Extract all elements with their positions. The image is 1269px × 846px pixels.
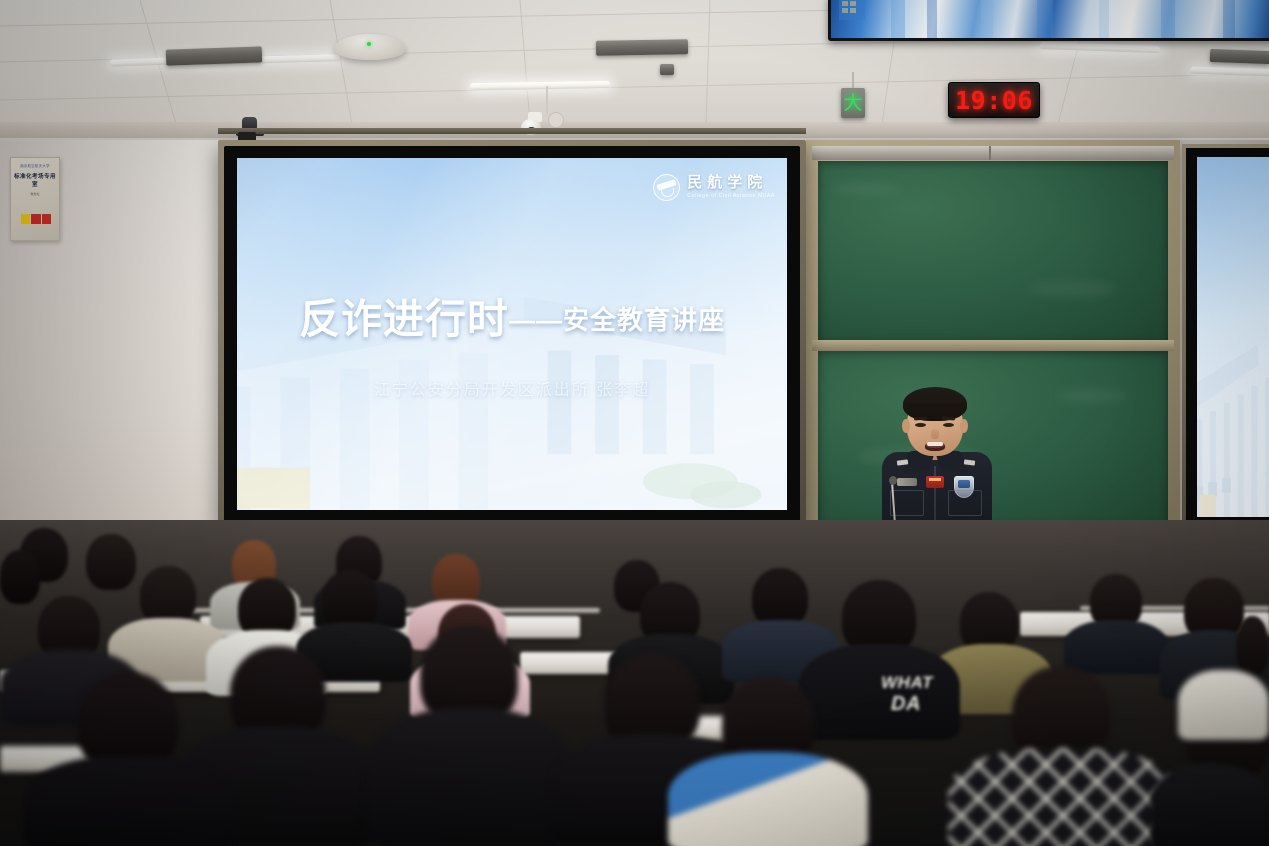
microphone-head xyxy=(889,476,897,485)
officer-eye-left xyxy=(915,423,926,427)
officer-ear-left xyxy=(902,419,910,433)
audience-area: WHAT DA xyxy=(0,520,1269,846)
wall-tv-display[interactable] xyxy=(828,0,1269,41)
secondary-display-slide[interactable] xyxy=(1197,157,1269,517)
audience-shoulders-20 xyxy=(366,708,572,846)
audience-head-15 xyxy=(752,568,808,628)
audience-shoulders-26 xyxy=(1178,670,1269,740)
blackboard-slide-track[interactable] xyxy=(812,146,1174,160)
blackboard-middle-rail xyxy=(812,340,1174,351)
tv-content xyxy=(831,0,1269,38)
civil-aviation-emblem-icon xyxy=(653,174,680,201)
slide-title-subtitle: ——安全教育讲座 xyxy=(509,305,725,335)
slide-presenter-line: 江宁公安分局开发区派出所 张李超 xyxy=(237,376,787,400)
screen-top-rail xyxy=(218,128,806,134)
officer-wing-insignia xyxy=(897,478,917,486)
audience-head-11 xyxy=(322,570,378,630)
plaque-department: 教务处 xyxy=(14,192,56,196)
plaque-university-name: 南京航空航天大学 xyxy=(14,163,56,168)
exit-sign-stem xyxy=(852,72,854,89)
presentation-slide[interactable]: 民航学院 College of Civil Aviation NUAA 反诈进行… xyxy=(237,158,787,510)
ceiling-sensor xyxy=(660,64,674,75)
hoodie-text-line1: WHAT xyxy=(862,674,952,691)
camera-cable xyxy=(546,86,548,114)
audience-head-5 xyxy=(86,534,136,590)
audience-shoulders-hoodie xyxy=(798,644,960,740)
audience-shoulders-8 xyxy=(1064,620,1168,674)
audience-shoulders-25 xyxy=(1150,764,1269,846)
blackboard-upper-panel xyxy=(818,161,1168,341)
officer-teeth xyxy=(927,442,943,446)
audience-head-18 xyxy=(1236,616,1269,676)
emergency-exit-sign: 大 xyxy=(841,88,865,118)
officer-ear-right xyxy=(960,419,968,433)
camera-wall-plate xyxy=(548,112,564,128)
slide-title-block: 反诈进行时——安全教育讲座 xyxy=(237,285,787,345)
audience-shoulders-blue-hood xyxy=(668,752,868,846)
ceiling-vent-1 xyxy=(166,46,262,65)
logo-english-name: College of Civil Aviation NUAA xyxy=(687,194,775,200)
audience-shoulders-22 xyxy=(24,756,232,846)
exit-sign-glyph: 大 xyxy=(843,94,862,113)
slide-logo: 民航学院 College of Civil Aviation NUAA xyxy=(653,174,775,201)
ceiling-vent-3 xyxy=(1210,49,1269,64)
clock-time-text: 19:06 xyxy=(955,86,1033,115)
plaque-badge xyxy=(21,214,51,224)
hoodie-text-line2: DA xyxy=(866,694,946,714)
digital-clock: 19:06 xyxy=(948,82,1040,118)
officer-eye-right xyxy=(943,423,954,427)
secondary-slide-building-art xyxy=(1197,315,1269,517)
slide-title-main: 反诈进行时 xyxy=(299,296,509,342)
audience-head-9 xyxy=(140,566,196,626)
officer-nose xyxy=(931,429,939,439)
officer-pocket-right xyxy=(948,490,982,516)
logo-chinese-name: 民航学院 xyxy=(687,175,775,192)
wall-plaque: 南京航空航天大学 标准化考场专用室 教务处 xyxy=(10,157,60,241)
officer-hair xyxy=(903,387,967,421)
lecture-hall-photo: 19:06 大 南京航空航天大学 标准化考场专用室 教务处 xyxy=(0,0,1269,846)
officer-chest-name-badge xyxy=(926,476,944,488)
plaque-room-title: 标准化考场专用室 xyxy=(14,172,56,188)
audience-shoulders-x-sweater xyxy=(948,748,1178,846)
audience-head-6 xyxy=(0,550,40,604)
ceiling-vent-2 xyxy=(596,39,688,56)
smoke-detector xyxy=(334,34,406,60)
